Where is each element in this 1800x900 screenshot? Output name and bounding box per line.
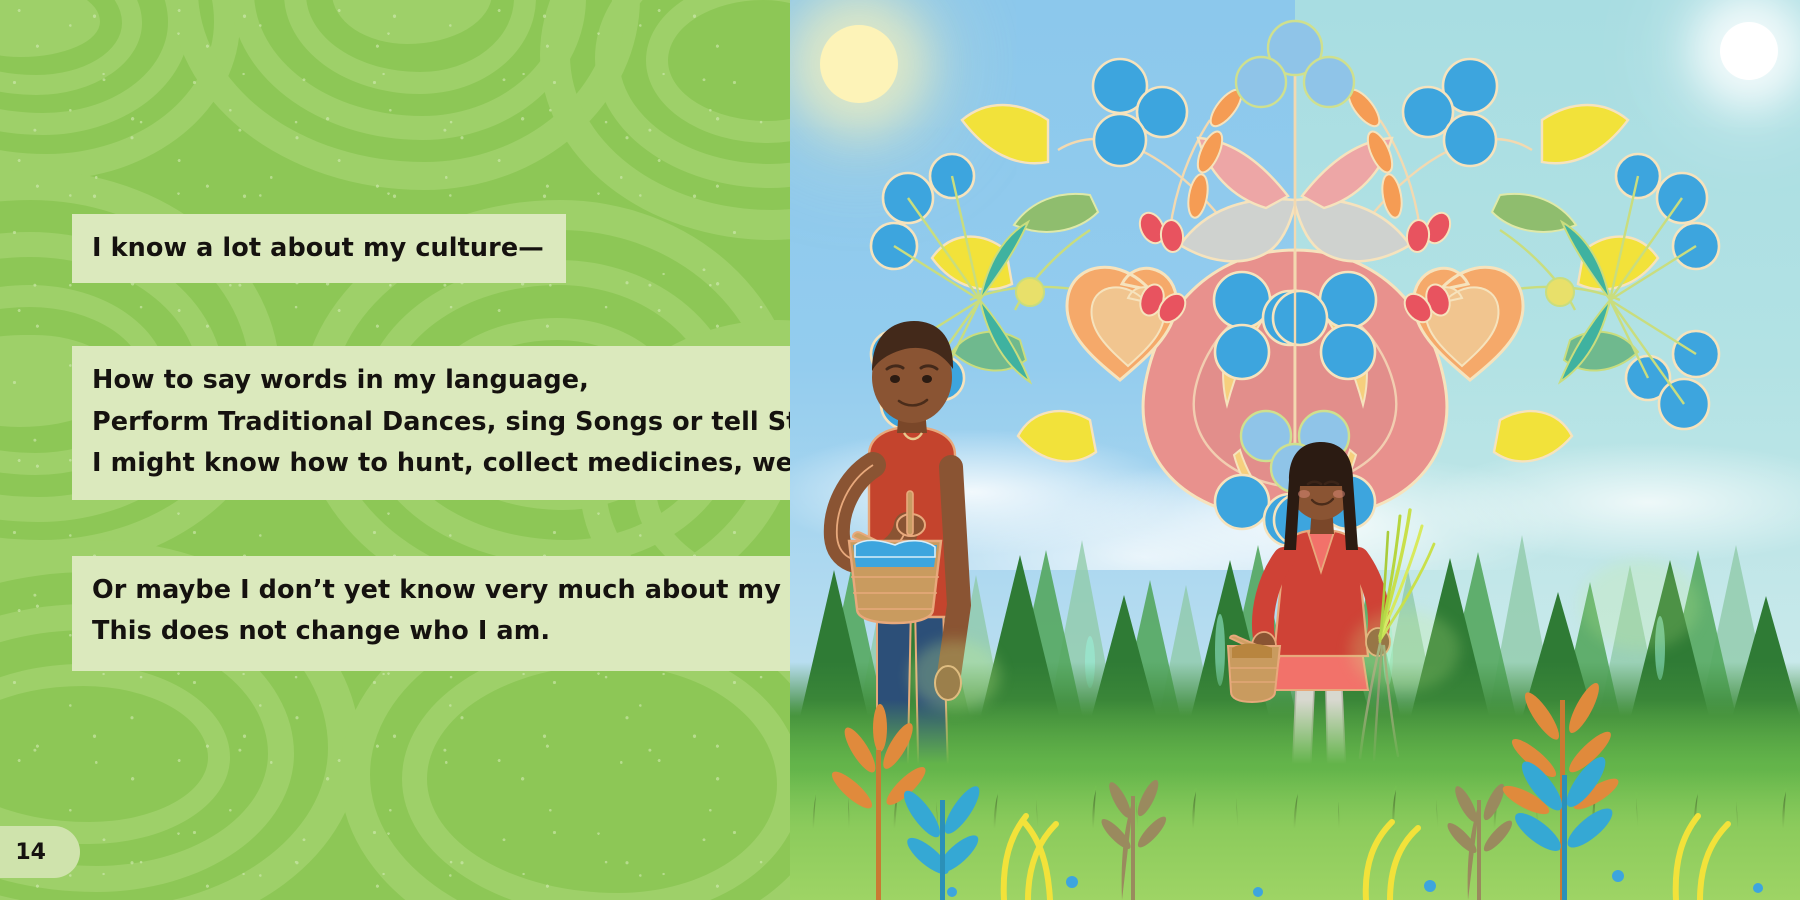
bokeh-glow	[1350, 610, 1460, 690]
left-page: I know a lot about my culture— How to sa…	[0, 0, 790, 900]
bokeh-glow	[1580, 560, 1700, 650]
page-number: 14	[15, 840, 46, 865]
page-number-badge: 14	[0, 826, 80, 878]
story-line: I know a lot about my culture—	[92, 228, 544, 269]
text-block-1: I know a lot about my culture—	[72, 214, 566, 283]
story-text: I know a lot about my culture— How to sa…	[72, 214, 732, 671]
text-block-3: Or maybe I don’t yet know very much abou…	[72, 556, 790, 671]
girl-cheek-right	[1333, 490, 1345, 498]
scattered-berries	[947, 870, 1763, 897]
blue-leaf-sprig-left	[898, 782, 985, 900]
brown-seed-stalks	[1098, 777, 1516, 900]
right-page-illustration	[790, 0, 1800, 900]
center-bead-right	[1304, 57, 1354, 107]
story-line: Perform Traditional Dances, sing Songs o…	[92, 402, 790, 443]
story-line: How to say words in my language,	[92, 360, 790, 401]
bokeh-glow	[910, 640, 1000, 710]
story-line: Or maybe I don’t yet know very much abou…	[92, 570, 790, 611]
text-block-2: How to say words in my language, Perform…	[72, 346, 790, 500]
book-spread: I know a lot about my culture— How to sa…	[0, 0, 1800, 900]
boy-eye-right	[922, 375, 932, 383]
story-line: This does not change who I am.	[92, 611, 790, 652]
orange-fern-sprig-right	[1499, 680, 1622, 900]
boy-eye-left	[890, 375, 900, 383]
girl-cheek-left	[1298, 490, 1310, 498]
center-bead-left	[1236, 57, 1286, 107]
story-line: I might know how to hunt, collect medici…	[92, 443, 790, 484]
boy-stirring-stick	[907, 491, 913, 535]
